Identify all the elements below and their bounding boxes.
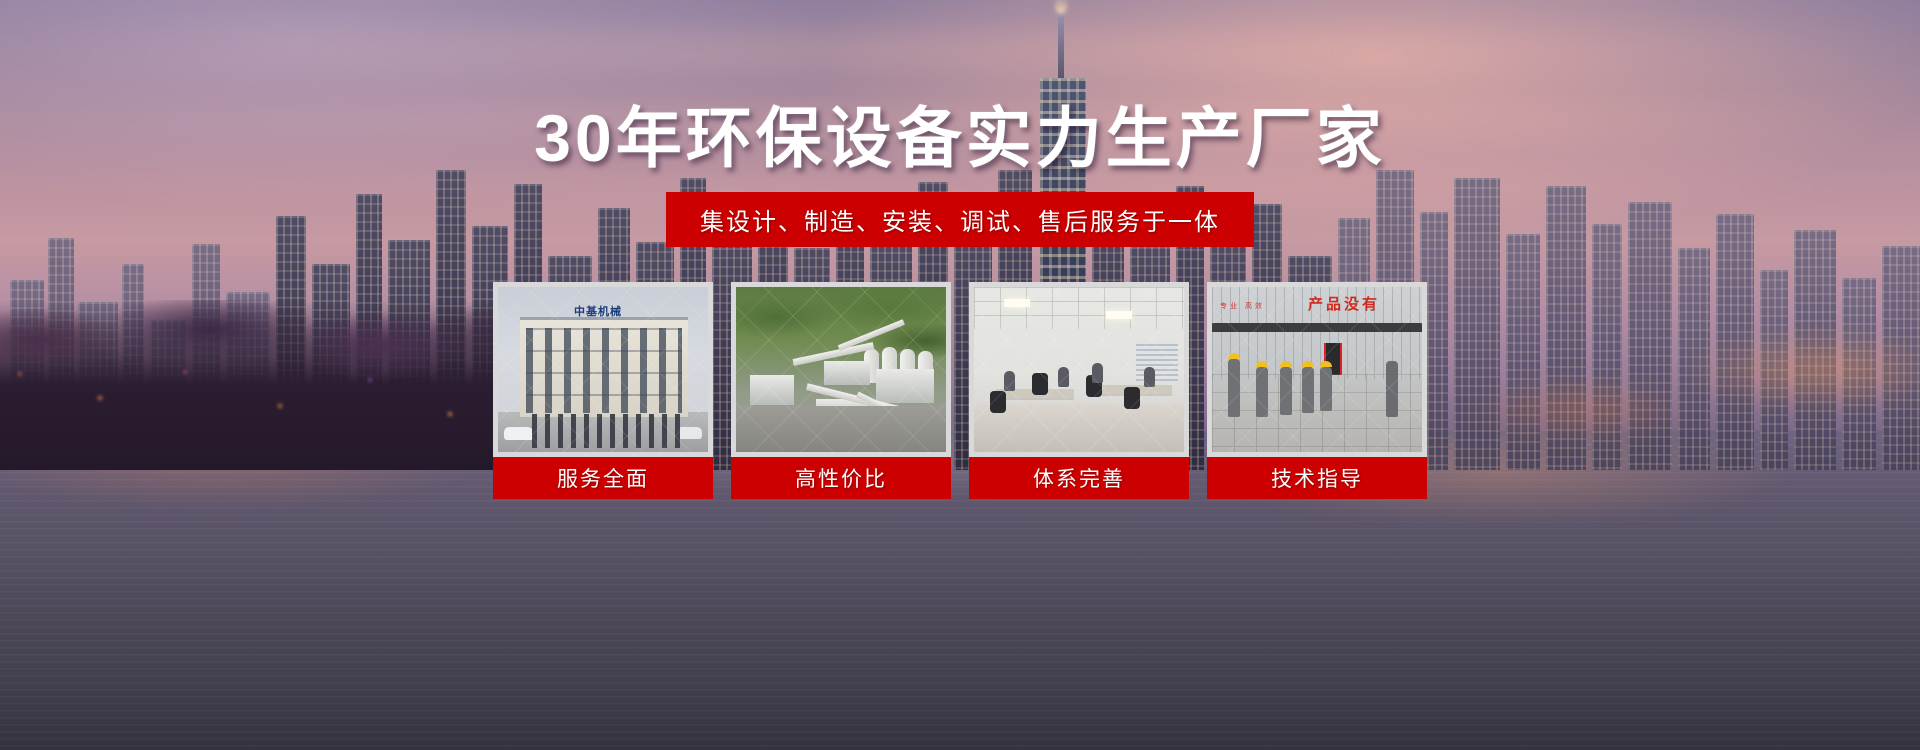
- hero-banner: 30年环保设备实力生产厂家 集设计、制造、安装、调试、售后服务于一体 中基机械 …: [0, 0, 1920, 750]
- card-photo-office-building: 中基机械: [498, 287, 708, 452]
- wall-slogan-text: 专业 高效: [1220, 301, 1265, 311]
- card-caption-label: 技术指导: [1271, 463, 1363, 493]
- card-photo-aerial-plant: [736, 287, 946, 452]
- feature-card[interactable]: 高性价比: [731, 282, 951, 499]
- card-photo-factory-yard: 专业 高效 产品没有: [1212, 287, 1422, 452]
- feature-card-list: 中基机械 服务全面: [493, 282, 1427, 499]
- card-caption-bar: 高性价比: [731, 457, 951, 499]
- card-caption-bar: 服务全面: [493, 457, 713, 499]
- subtitle-banner: 集设计、制造、安装、调试、售后服务于一体: [666, 192, 1254, 247]
- feature-card[interactable]: 专业 高效 产品没有 技术指导: [1207, 282, 1427, 499]
- subtitle-text: 集设计、制造、安装、调试、售后服务于一体: [700, 202, 1220, 237]
- card-caption-label: 服务全面: [557, 463, 649, 493]
- card-caption-bar: 技术指导: [1207, 457, 1427, 499]
- wall-headline-text: 产品没有: [1308, 293, 1380, 314]
- feature-card[interactable]: 体系完善: [969, 282, 1189, 499]
- card-caption-label: 体系完善: [1033, 463, 1125, 493]
- feature-card[interactable]: 中基机械 服务全面: [493, 282, 713, 499]
- page-title: 30年环保设备实力生产厂家: [0, 105, 1920, 171]
- city-light-glow: [1400, 250, 1920, 470]
- card-caption-bar: 体系完善: [969, 457, 1189, 499]
- card-caption-label: 高性价比: [795, 463, 887, 493]
- building-sign-text: 中基机械: [550, 303, 646, 319]
- tower-spire: [1058, 12, 1064, 78]
- card-photo-office-interior: [974, 287, 1184, 452]
